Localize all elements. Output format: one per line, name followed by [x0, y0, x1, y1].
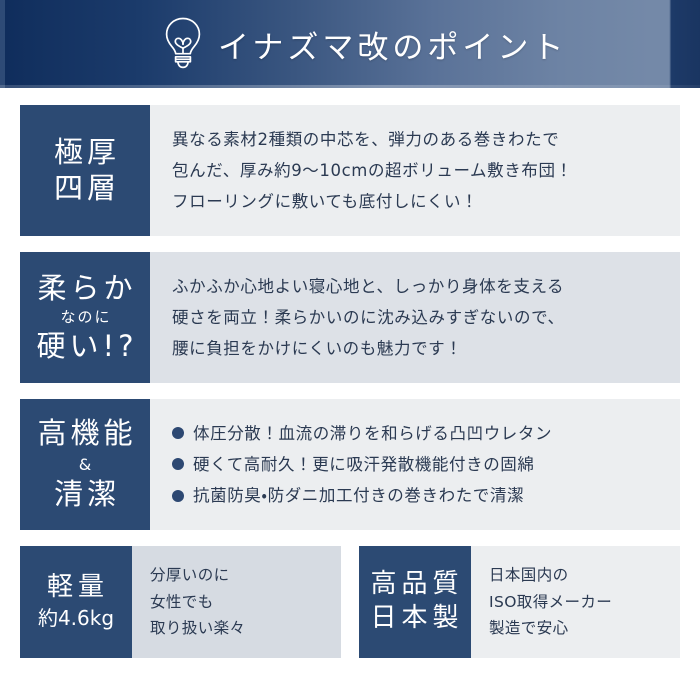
feature-card-thickness: 極厚 四層 異なる素材2種類の中芯を、弾力のある巻きわたで 包んだ、厚み約9〜1…: [20, 105, 680, 236]
card-label-thickness: 極厚 四層: [20, 105, 150, 236]
card-label-weight-value: 約4.6kg: [38, 604, 114, 633]
body-line: 分厚いのに: [150, 562, 341, 589]
feature-card-weight: 軽量 約4.6kg 分厚いのに 女性でも 取り扱い楽々: [20, 546, 341, 658]
card-label-line-1: 極厚: [50, 135, 120, 170]
card-body-madeinjapan: 日本国内の ISO取得メーカー 製造で安心: [471, 546, 680, 658]
bullet-dot-icon: [172, 427, 184, 439]
card-label-line-2: 四層: [50, 171, 120, 206]
card-label-weight: 軽量 約4.6kg: [20, 546, 132, 658]
bullet-item: 体圧分散！血流の滞りを和らげる凸凹ウレタン: [172, 418, 680, 449]
body-line: 製造で安心: [489, 615, 680, 642]
body-line: 包んだ、厚み約9〜10cmの超ボリューム敷き布団！: [172, 155, 680, 186]
card-label-function: 高機能 & 清潔: [20, 399, 150, 530]
card-body-firmness: ふかふか心地よい寝心地と、しっかり身体を支える 硬さを両立！柔らかいのに沈み込み…: [150, 252, 680, 383]
bullet-text: 硬くて高耐久！更に吸汗発散機能付きの固綿: [193, 449, 535, 480]
card-label-line-2: 硬い!?: [32, 329, 137, 364]
body-line: 腰に負担をかけにくいのも魅力です！: [172, 333, 680, 364]
card-body-weight: 分厚いのに 女性でも 取り扱い楽々: [132, 546, 341, 658]
bullet-dot-icon: [172, 490, 184, 502]
body-line: 取り扱い楽々: [150, 615, 341, 642]
lightbulb-icon: [160, 15, 206, 71]
body-line: 硬さを両立！柔らかいのに沈み込みすぎないので、: [172, 302, 680, 333]
body-line: ISO取得メーカー: [489, 589, 680, 616]
feature-card-madeinjapan: 高品質 日本製 日本国内の ISO取得メーカー 製造で安心: [359, 546, 680, 658]
feature-card-row-bottom: 軽量 約4.6kg 分厚いのに 女性でも 取り扱い楽々 高品質 日本製 日本国内…: [20, 546, 680, 658]
card-label-line-2: 日本製: [366, 602, 463, 636]
bullet-item: 硬くて高耐久！更に吸汗発散機能付きの固綿: [172, 449, 680, 480]
body-line: 女性でも: [150, 589, 341, 616]
bullet-dot-icon: [172, 458, 184, 470]
card-label-madeinjapan: 高品質 日本製: [359, 546, 471, 658]
card-label-line-1: 柔らか: [33, 271, 136, 306]
card-label-line-1: 高機能: [33, 416, 136, 451]
body-line: フローリングに敷いても底付しにくい！: [172, 186, 680, 217]
card-label-line-2: 清潔: [50, 477, 120, 512]
card-label-firmness: 柔らか なのに 硬い!?: [20, 252, 150, 383]
card-label-line-1: 高品質: [366, 568, 463, 602]
card-body-function: 体圧分散！血流の滞りを和らげる凸凹ウレタン 硬くて高耐久！更に吸汗発散機能付きの…: [150, 399, 680, 530]
page-header: イナズマ改のポイント: [0, 0, 700, 88]
body-line: ふかふか心地よい寝心地と、しっかり身体を支える: [172, 271, 680, 302]
feature-card-list: 極厚 四層 異なる素材2種類の中芯を、弾力のある巻きわたで 包んだ、厚み約9〜1…: [0, 88, 700, 658]
bullet-item: 抗菌防臭・防ダニ加工付きの巻きわたで清潔: [172, 480, 680, 511]
feature-card-firmness: 柔らか なのに 硬い!? ふかふか心地よい寝心地と、しっかり身体を支える 硬さを…: [20, 252, 680, 383]
body-line: 日本国内の: [489, 562, 680, 589]
card-label-line-1: 軽量: [43, 571, 109, 605]
card-body-thickness: 異なる素材2種類の中芯を、弾力のある巻きわたで 包んだ、厚み約9〜10cmの超ボ…: [150, 105, 680, 236]
bullet-text: 抗菌防臭・防ダニ加工付きの巻きわたで清潔: [193, 480, 524, 511]
body-line: 異なる素材2種類の中芯を、弾力のある巻きわたで: [172, 124, 680, 155]
bullet-text: 体圧分散！血流の滞りを和らげる凸凹ウレタン: [193, 418, 552, 449]
page-title: イナズマ改のポイント: [218, 22, 567, 67]
card-label-ampersand: &: [79, 452, 91, 478]
feature-card-function: 高機能 & 清潔 体圧分散！血流の滞りを和らげる凸凹ウレタン 硬くて高耐久！更に…: [20, 399, 680, 530]
card-label-sub: なのに: [58, 306, 111, 329]
